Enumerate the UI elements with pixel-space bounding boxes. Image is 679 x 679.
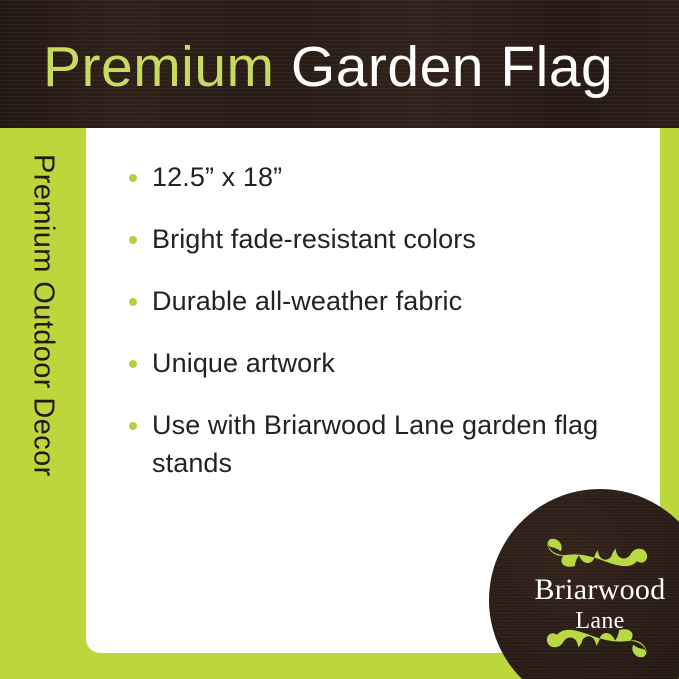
list-item: Bright fade-resistant colors: [126, 220, 626, 258]
brand-name: Briarwood: [489, 573, 679, 607]
list-item: Unique artwork: [126, 344, 626, 382]
bullet-dot-icon: [129, 174, 137, 182]
sidebar-strip: Premium Outdoor Decor: [0, 128, 86, 679]
feature-text: Durable all-weather fabric: [152, 286, 462, 316]
page-title-accent: Premium: [43, 35, 275, 99]
sidebar-label-text: Premium Outdoor Decor: [27, 154, 60, 477]
bullet-dot-icon: [129, 360, 137, 368]
leaf-icon: [545, 625, 649, 659]
sidebar-vertical-label: Premium Outdoor Decor: [0, 128, 86, 679]
feature-text: Bright fade-resistant colors: [152, 224, 476, 254]
bullet-dot-icon: [129, 422, 137, 430]
bullet-dot-icon: [129, 236, 137, 244]
list-item: 12.5” x 18”: [126, 158, 626, 196]
bullet-dot-icon: [129, 298, 137, 306]
header-band: Premium Garden Flag: [0, 0, 679, 128]
feature-list: 12.5” x 18” Bright fade-resistant colors…: [126, 158, 626, 482]
page-title: Premium Garden Flag: [43, 36, 613, 98]
page-title-main: Garden Flag: [291, 35, 613, 99]
feature-text: Unique artwork: [152, 348, 335, 378]
product-infographic: Premium Outdoor Decor 12.5” x 18” Bright…: [0, 0, 679, 679]
feature-text: 12.5” x 18”: [152, 162, 282, 192]
feature-text: Use with Briarwood Lane garden flag stan…: [152, 410, 598, 478]
leaf-icon: [545, 537, 649, 571]
list-item: Use with Briarwood Lane garden flag stan…: [126, 406, 626, 482]
list-item: Durable all-weather fabric: [126, 282, 626, 320]
